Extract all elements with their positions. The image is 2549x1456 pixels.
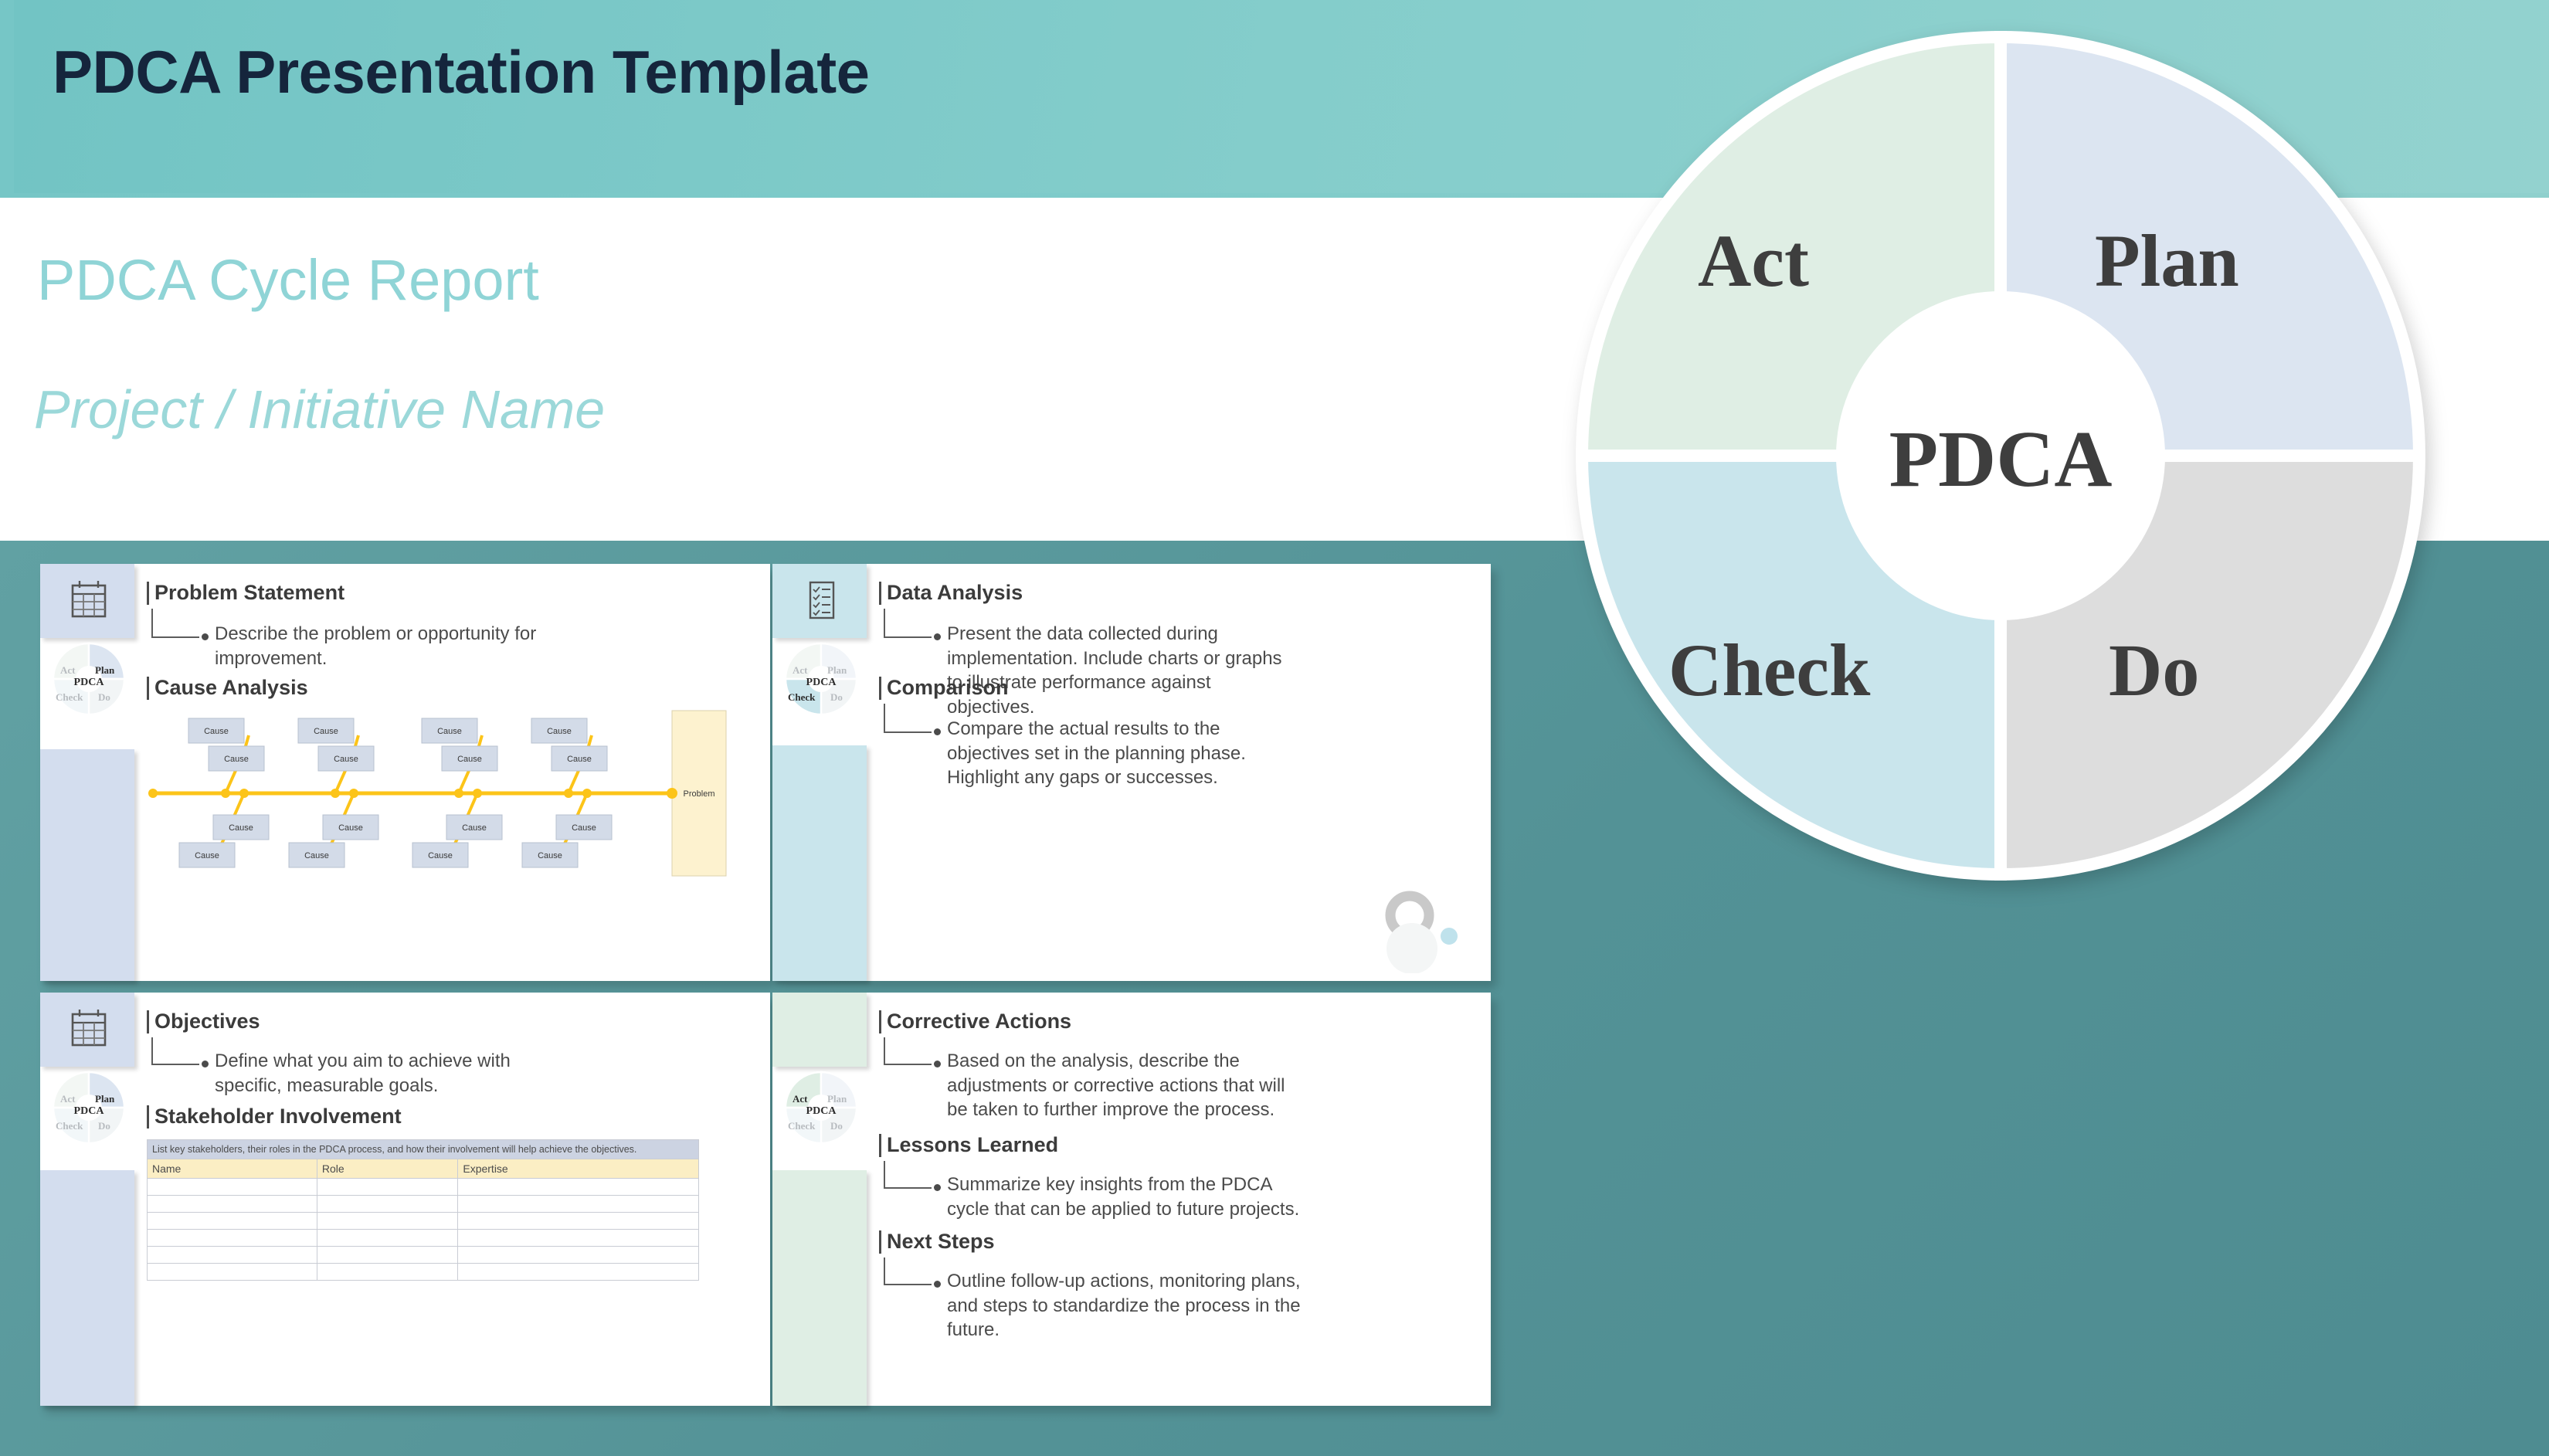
cell-expertise[interactable] [458,1230,699,1247]
card-rail: Act Plan Check Do PDCA [40,564,134,981]
checklist-icon [800,579,842,623]
card-rail-bottom [40,749,134,981]
card-rail-bottom [40,1170,134,1406]
mini-wheel-label-plan: Plan [95,665,114,675]
bullet-connector [884,704,932,733]
table-row[interactable] [148,1196,699,1213]
card-body: Problem Statement Describe the problem o… [134,564,770,981]
table-header-role: Role [317,1159,457,1179]
table-row[interactable] [148,1264,699,1281]
wheel-center-label: PDCA [1576,413,2425,505]
section-heading-next-steps: Next Steps [887,1230,995,1254]
card-rail-top [40,993,134,1067]
mini-wheel-center-label: PDCA [783,677,859,689]
mini-wheel-label-act: Act [60,1094,76,1104]
svg-text:Cause: Cause [338,823,363,833]
svg-text:Cause: Cause [567,755,592,764]
wheel-label-do: Do [2109,633,2199,708]
mini-wheel-label-plan: Plan [827,665,847,675]
section-text-problem-statement: Describe the problem or opportunity for … [215,622,539,670]
section-heading-objectives: Objectives [154,1010,260,1033]
section-heading-stakeholder-involvement: Stakeholder Involvement [154,1105,402,1128]
table-row[interactable] [148,1179,699,1196]
mini-wheel-label-check: Check [56,1121,83,1131]
mini-pdca-wheel: Act Plan Check Do PDCA [783,1070,859,1145]
section-text-next-steps: Outline follow-up actions, monitoring pl… [947,1269,1302,1342]
svg-text:Cause: Cause [224,755,249,764]
wheel-label-act: Act [1698,224,1809,298]
cell-expertise[interactable] [458,1264,699,1281]
wheel-label-check: Check [1668,633,1870,708]
decorative-circles-icon [1381,888,1474,973]
mini-pdca-wheel: Act Plan Check Do PDCA [51,641,127,717]
card-rail: Act Plan Check Do PDCA [772,564,867,981]
mini-wheel-label-do: Do [830,1121,843,1131]
bullet-connector [151,609,199,638]
calendar-icon [68,1008,110,1051]
cell-name[interactable] [148,1196,317,1213]
section-text-data-analysis: Present the data collected during implem… [947,622,1287,720]
section-text-corrective-actions: Based on the analysis, describe the adju… [947,1049,1302,1122]
cell-name[interactable] [148,1179,317,1196]
mini-wheel-label-check: Check [56,692,83,702]
mini-wheel-label-check: Check [788,1121,815,1131]
pdca-wheel-diagram: Act Plan Check Do PDCA [1576,23,2425,888]
cell-name[interactable] [148,1213,317,1230]
svg-text:Cause: Cause [437,727,462,736]
bullet-connector [884,1257,932,1285]
stakeholder-table[interactable]: List key stakeholders, their roles in th… [147,1139,699,1281]
mini-wheel-label-act: Act [60,665,76,675]
mini-wheel-label-plan: Plan [827,1094,847,1104]
cell-role[interactable] [317,1196,457,1213]
section-heading-comparison: Comparison [887,676,1009,700]
cell-expertise[interactable] [458,1247,699,1264]
svg-text:Cause: Cause [428,851,453,860]
card-act-corrective[interactable]: Act Plan Check Do PDCA Corrective Action… [772,993,1491,1406]
table-note: List key stakeholders, their roles in th… [148,1140,699,1159]
cell-expertise[interactable] [458,1196,699,1213]
svg-text:Problem: Problem [684,789,715,799]
mini-wheel-label-act: Act [793,1094,808,1104]
bullet-connector [151,1037,199,1065]
card-body: Data Analysis Present the data collected… [867,564,1491,981]
section-text-comparison: Compare the actual results to the object… [947,717,1279,790]
svg-text:Cause: Cause [314,727,338,736]
svg-text:Cause: Cause [538,851,562,860]
page-title: PDCA Presentation Template [53,37,870,107]
bullet-connector [884,1037,932,1065]
card-rail-bottom [772,1170,867,1406]
cell-expertise[interactable] [458,1213,699,1230]
section-heading-corrective-actions: Corrective Actions [887,1010,1071,1033]
cell-name[interactable] [148,1230,317,1247]
table-row[interactable] [148,1213,699,1230]
bullet-connector [884,1161,932,1189]
section-heading-cause-analysis: Cause Analysis [154,676,308,700]
svg-text:Cause: Cause [304,851,329,860]
mini-wheel-label-do: Do [98,692,110,702]
fishbone-diagram: Cause Cause Cause Cause Cause [142,703,729,884]
mini-wheel-label-do: Do [830,692,843,702]
mini-wheel-label-check: Check [788,692,815,702]
wheel-label-plan: Plan [2095,224,2239,298]
section-text-objectives: Define what you aim to achieve with spec… [215,1049,547,1098]
table-header-row: Name Role Expertise [148,1159,699,1179]
card-rail: Act Plan Check Do PDCA [40,993,134,1406]
svg-text:Cause: Cause [457,755,482,764]
section-text-lessons-learned: Summarize key insights from the PDCA cyc… [947,1173,1310,1221]
cell-name[interactable] [148,1247,317,1264]
svg-text:Cause: Cause [204,727,229,736]
svg-text:Cause: Cause [229,823,253,833]
card-rail-top [772,993,867,1067]
mini-wheel-center-label: PDCA [51,677,127,689]
table-header-expertise: Expertise [458,1159,699,1179]
table-row[interactable] [148,1230,699,1247]
slide-root: PDCA Presentation Template PDCA Cycle Re… [0,0,2549,1456]
table-row[interactable] [148,1247,699,1264]
bullet-connector [884,609,932,638]
mini-pdca-wheel: Act Plan Check Do PDCA [51,1070,127,1145]
table-header-name: Name [148,1159,317,1179]
section-heading-problem-statement: Problem Statement [154,581,345,605]
section-heading-lessons-learned: Lessons Learned [887,1133,1058,1157]
cell-role[interactable] [317,1264,457,1281]
mini-wheel-center-label: PDCA [783,1105,859,1118]
cell-role[interactable] [317,1247,457,1264]
cell-role[interactable] [317,1230,457,1247]
svg-text:Cause: Cause [195,851,219,860]
card-plan-objectives[interactable]: Act Plan Check Do PDCA Objectives Define… [40,993,770,1406]
svg-text:Cause: Cause [462,823,487,833]
section-heading-data-analysis: Data Analysis [887,581,1023,605]
card-body: Corrective Actions Based on the analysis… [867,993,1491,1406]
card-rail: Act Plan Check Do PDCA [772,993,867,1406]
cell-role[interactable] [317,1179,457,1196]
svg-text:Cause: Cause [547,727,572,736]
mini-wheel-label-do: Do [98,1121,110,1131]
calendar-icon [68,579,110,623]
cell-name[interactable] [148,1264,317,1281]
subtitle-report-name: PDCA Cycle Report [37,247,539,313]
mini-pdca-wheel: Act Plan Check Do PDCA [783,641,859,717]
svg-text:Cause: Cause [334,755,358,764]
table-note-row: List key stakeholders, their roles in th… [148,1140,699,1159]
cell-expertise[interactable] [458,1179,699,1196]
card-rail-top [40,564,134,638]
mini-wheel-center-label: PDCA [51,1105,127,1118]
mini-wheel-label-plan: Plan [95,1094,114,1104]
cell-role[interactable] [317,1213,457,1230]
subtitle-project-name: Project / Initiative Name [34,378,605,440]
card-rail-top [772,564,867,638]
card-plan-problem[interactable]: Act Plan Check Do PDCA Problem Statement… [40,564,770,981]
card-body: Objectives Define what you aim to achiev… [134,993,770,1406]
mini-wheel-label-act: Act [793,665,808,675]
card-check-data[interactable]: Act Plan Check Do PDCA Data Analysis Pre… [772,564,1491,981]
svg-text:Cause: Cause [572,823,596,833]
card-rail-bottom [772,745,867,981]
